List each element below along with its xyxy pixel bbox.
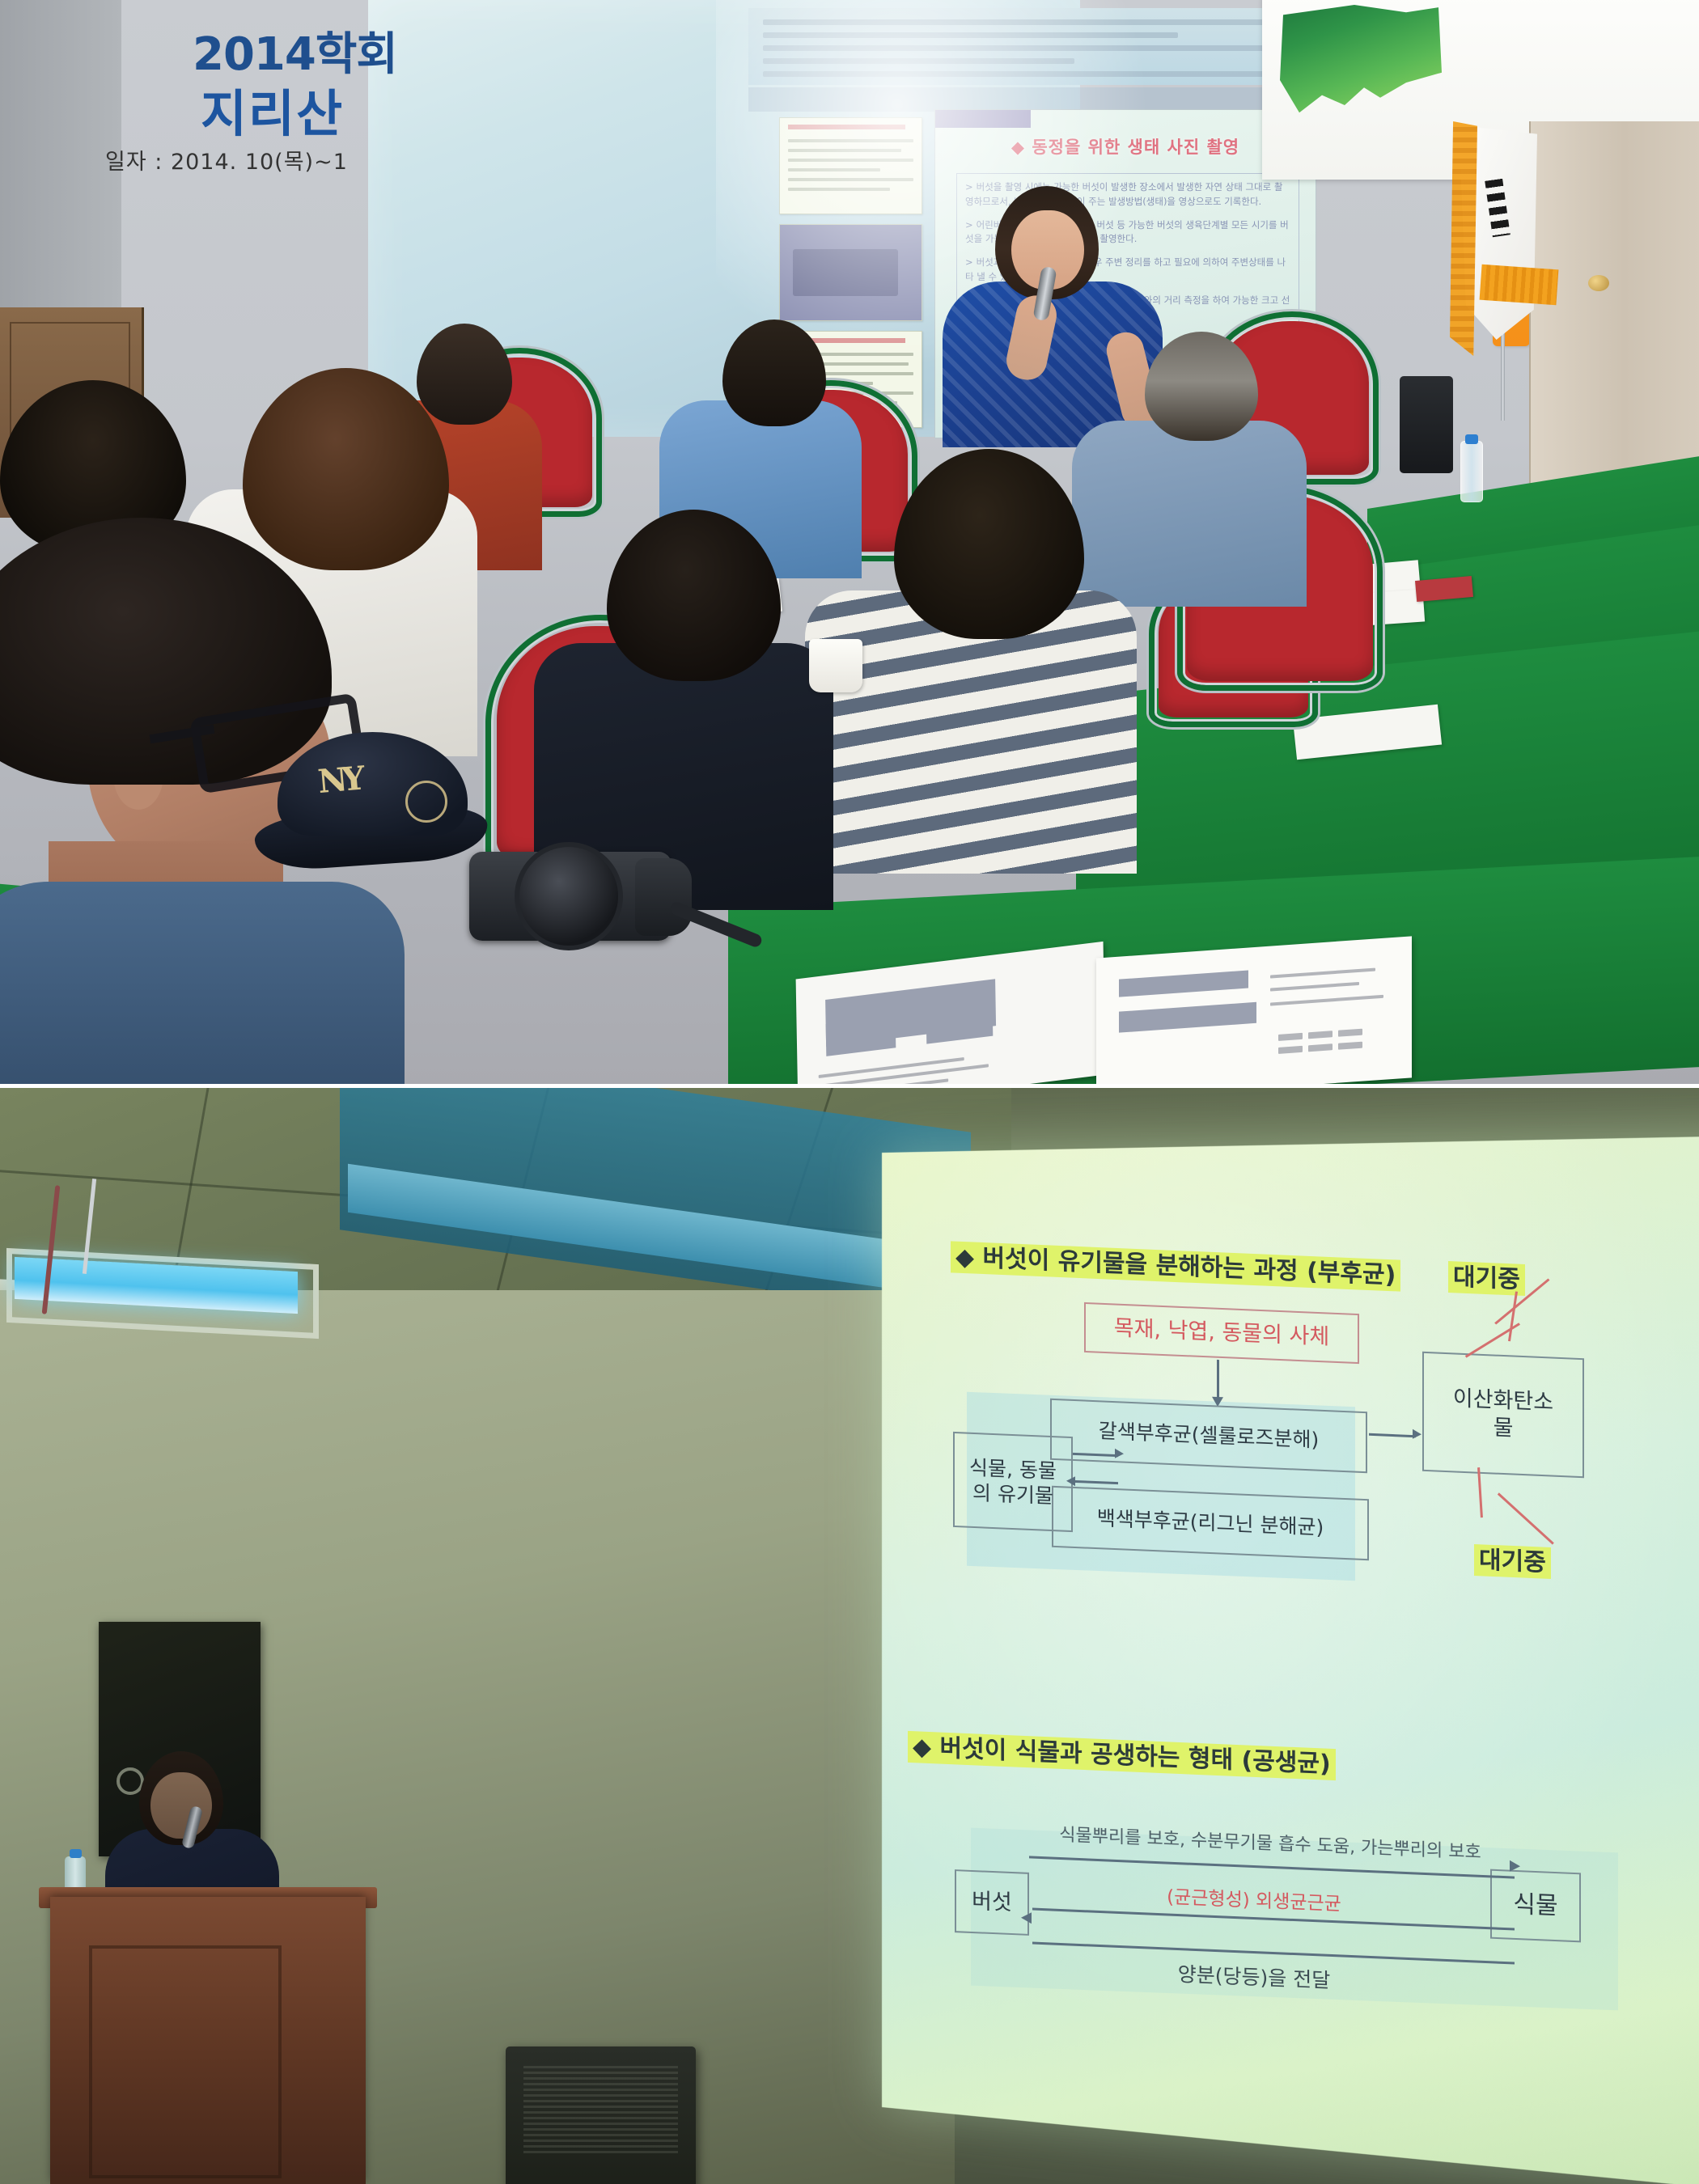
projection-screen-bottom (882, 1135, 1699, 2184)
baseball-cap: NY (255, 732, 485, 866)
camera-grip (635, 858, 692, 936)
dslr-camera (469, 837, 712, 954)
mountain-map-graphic (1280, 5, 1442, 130)
lecture-hall-projected-slide-photo: ◆ 버섯이 유기물을 분해하는 과정 (부후균) 목재, 낙엽, 동물의 사체 … (0, 1088, 1699, 2184)
water-bottle (1460, 441, 1483, 502)
camera-lens-icon (515, 842, 623, 950)
flag-fringe (1450, 121, 1477, 356)
wooden-door (1529, 121, 1699, 502)
door-knob-icon (1588, 275, 1609, 291)
amplifier-speaker (506, 2046, 696, 2184)
podium-front-panel (89, 1945, 282, 2178)
screen-glare (882, 1135, 1699, 2184)
cap-crown (278, 732, 468, 836)
paper-cup (809, 639, 862, 692)
lecture-hall-audience-photo: ◆ 동정을 위한 생태 사진 촬영 >버섯을 촬영 시에는 가능한 버섯이 발생… (0, 0, 1699, 1088)
banner-date-text: 일자 : 2014. 10(목)~1 (105, 144, 348, 176)
booklet-left-page (796, 942, 1106, 1088)
presenter-top (926, 186, 1169, 445)
flag-fringe (1480, 265, 1559, 306)
loudspeaker (1400, 376, 1453, 473)
open-booklet (797, 942, 1412, 1088)
booklet-right-page (1096, 936, 1412, 1088)
two-photo-collage: ◆ 동정을 위한 생태 사진 촬영 >버섯을 촬영 시에는 가능한 버섯이 발생… (0, 0, 1699, 2184)
cap-side-logo-icon (405, 781, 447, 823)
ny-logo-icon: NY (316, 760, 361, 801)
presenter-face (150, 1772, 212, 1839)
banner-mountain-text: 지리산 (201, 73, 344, 146)
man-shirt (0, 882, 405, 1088)
